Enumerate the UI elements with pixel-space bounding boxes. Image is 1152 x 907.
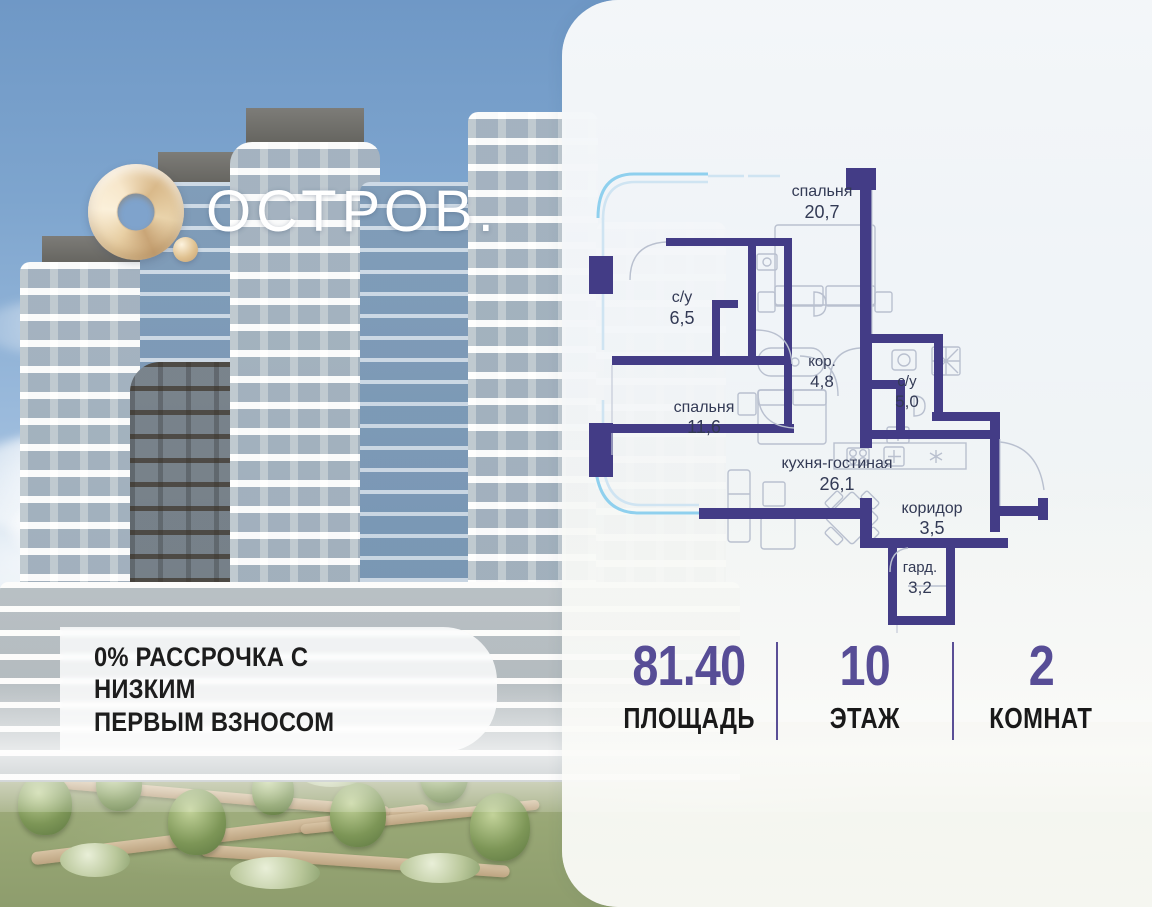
room-label-0-name: спальня <box>792 183 853 200</box>
room-label-7-area: 3,2 <box>908 578 932 597</box>
shrub <box>230 857 320 889</box>
room-label-3-area: 5,0 <box>895 392 919 411</box>
room-label-4-area: 11,6 <box>687 417 721 437</box>
stat-area: 81.40 ПЛОЩАДЬ <box>602 638 776 734</box>
promo-banner[interactable]: 0% РАССРОЧКА С НИЗКИМ ПЕРВЫМ ВЗНОСОМ <box>60 627 497 752</box>
room-label-6-area: 3,5 <box>919 518 944 538</box>
room-label-7-name: гард. <box>903 559 937 576</box>
stat-floor-value: 10 <box>840 638 890 695</box>
room-label-3-name: с/у <box>897 373 917 390</box>
room-label-0-area: 20,7 <box>804 202 839 222</box>
stat-rooms: 2 КОМНАТ <box>954 638 1128 734</box>
tree <box>18 773 72 835</box>
stat-floor: 10 ЭТАЖ <box>778 638 952 734</box>
room-label-2-area: 4,8 <box>810 372 834 391</box>
stat-floor-label: ЭТАЖ <box>830 705 900 734</box>
room-label-5-name: кухня-гостиная <box>781 455 892 472</box>
apartment-info-panel: спальня 20,7 с/у 6,5 кор. 4,8 с/у 5,0 сп… <box>562 0 1152 907</box>
tree <box>330 783 386 847</box>
room-label-1-area: 6,5 <box>669 308 694 328</box>
room-label-5-area: 26,1 <box>819 474 854 494</box>
promo-card: ОСТРОВ. 0% РАССРОЧКА С НИЗКИМ ПЕРВЫМ ВЗН… <box>0 0 1152 907</box>
stat-rooms-value: 2 <box>1028 638 1053 695</box>
apartment-stats: 81.40 ПЛОЩАДЬ 10 ЭТАЖ 2 КОМНАТ <box>602 638 1128 758</box>
shrub <box>400 853 480 883</box>
tree <box>168 789 226 855</box>
room-label-4-name: спальня <box>674 399 735 416</box>
room-label-6-name: коридор <box>901 500 962 517</box>
stat-rooms-label: КОМНАТ <box>990 705 1093 734</box>
gold-torus-logo-icon <box>88 164 184 260</box>
torus-dot-shape <box>173 237 198 262</box>
brand-logo[interactable]: ОСТРОВ. <box>88 164 499 260</box>
stat-area-value: 81.40 <box>633 638 746 695</box>
promo-banner-text: 0% РАССРОЧКА С НИЗКИМ ПЕРВЫМ ВЗНОСОМ <box>94 641 413 738</box>
shrub <box>60 843 130 877</box>
room-label-2-name: кор. <box>808 353 836 370</box>
floor-plan[interactable]: спальня 20,7 с/у 6,5 кор. 4,8 с/у 5,0 сп… <box>562 0 1152 640</box>
brand-wordmark: ОСТРОВ. <box>206 183 499 241</box>
torus-hole-shape <box>118 194 155 231</box>
stat-area-label: ПЛОЩАДЬ <box>623 705 754 734</box>
roof-structure <box>246 108 364 144</box>
tree <box>470 793 530 861</box>
room-label-1-name: с/у <box>672 289 692 306</box>
